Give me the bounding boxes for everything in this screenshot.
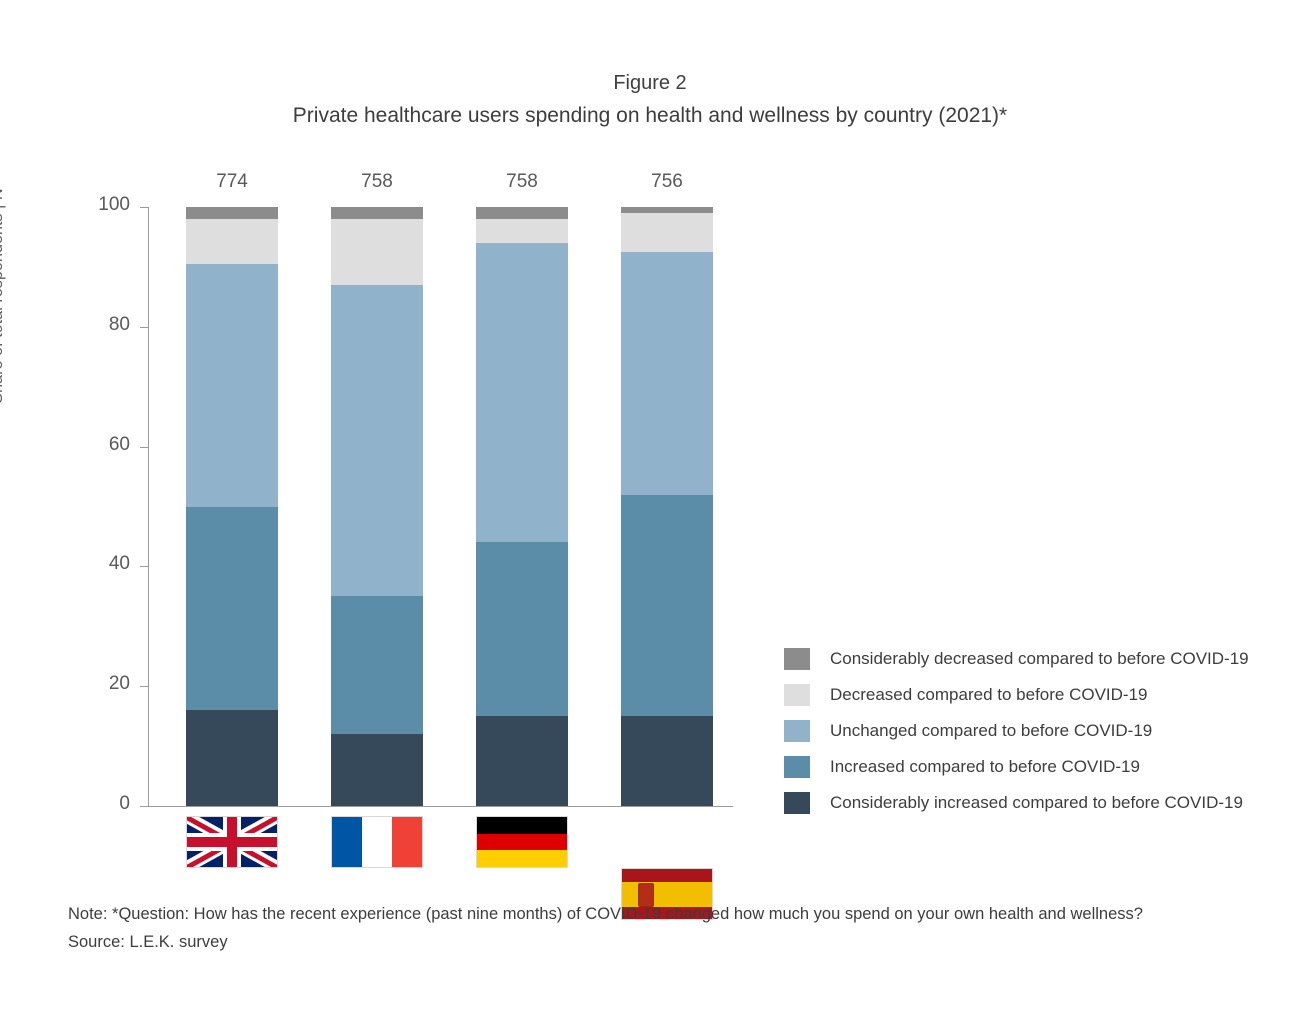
bar-segment-1[interactable]: [331, 596, 423, 734]
swatch-decreased: [784, 684, 810, 706]
legend-label: Unchanged compared to before COVID-19: [830, 721, 1152, 741]
y-tick-label-100: 100: [60, 194, 130, 216]
bar-segment-3[interactable]: [476, 219, 568, 243]
chart-notes: Note: *Question: How has the recent expe…: [68, 900, 1143, 956]
chart-legend: Considerably decreased compared to befor…: [784, 641, 1249, 821]
sample-size-label: 758: [476, 171, 568, 193]
bar-segment-3[interactable]: [186, 219, 278, 264]
bar-segment-1[interactable]: [186, 507, 278, 711]
uk-cross-red-v: [227, 817, 237, 867]
legend-item[interactable]: Considerably increased compared to befor…: [784, 785, 1249, 821]
sample-size-label: 756: [621, 171, 713, 193]
legend-label: Considerably increased compared to befor…: [830, 793, 1243, 813]
swatch-increased: [784, 756, 810, 778]
plot-area: 774758758756: [148, 207, 748, 806]
legend-item[interactable]: Unchanged compared to before COVID-19: [784, 713, 1249, 749]
bar-united-kingdom[interactable]: [186, 207, 278, 806]
note-line: Note: *Question: How has the recent expe…: [68, 900, 1143, 928]
sample-size-label: 758: [331, 171, 423, 193]
bar-segment-3[interactable]: [331, 219, 423, 285]
bar-segment-0[interactable]: [331, 734, 423, 806]
bar-segment-0[interactable]: [476, 716, 568, 806]
bar-segment-4[interactable]: [186, 207, 278, 219]
bar-segment-1[interactable]: [476, 542, 568, 716]
swatch-unchanged: [784, 720, 810, 742]
legend-item[interactable]: Decreased compared to before COVID-19: [784, 677, 1249, 713]
bar-segment-0[interactable]: [621, 716, 713, 806]
y-tick-label-80: 80: [60, 314, 130, 336]
legend-item[interactable]: Considerably decreased compared to befor…: [784, 641, 1249, 677]
bar-segment-2[interactable]: [331, 285, 423, 596]
source-line: Source: L.E.K. survey: [68, 928, 1143, 956]
legend-label: Considerably decreased compared to befor…: [830, 649, 1249, 669]
y-tick-label-60: 60: [60, 434, 130, 456]
bar-segment-3[interactable]: [621, 213, 713, 252]
chart-title-block: Figure 2 Private healthcare users spendi…: [0, 68, 1300, 132]
germany-band-gold: [477, 850, 567, 867]
france-band-red: [392, 817, 422, 867]
page-title: Private healthcare users spending on hea…: [0, 100, 1300, 132]
bar-spain[interactable]: [621, 207, 713, 806]
figure-number: Figure 2: [0, 68, 1300, 98]
x-axis-line: [148, 806, 733, 807]
uk-flag: [186, 816, 278, 868]
bar-segment-2[interactable]: [186, 264, 278, 507]
legend-label: Decreased compared to before COVID-19: [830, 685, 1148, 705]
y-axis-label: Share of total respondents | N: [0, 0, 7, 596]
bar-segment-2[interactable]: [476, 243, 568, 543]
france-flag: [331, 816, 423, 868]
france-band-blue: [332, 817, 362, 867]
france-band-white: [362, 817, 392, 867]
germany-band-red: [477, 834, 567, 851]
legend-item[interactable]: Increased compared to before COVID-19: [784, 749, 1249, 785]
bar-segment-4[interactable]: [331, 207, 423, 219]
y-tick-label-20: 20: [60, 673, 130, 695]
sample-size-label: 774: [186, 171, 278, 193]
swatch-considerably-increased: [784, 792, 810, 814]
bar-segment-1[interactable]: [621, 495, 713, 717]
bar-segment-0[interactable]: [186, 710, 278, 806]
bar-germany[interactable]: [476, 207, 568, 806]
legend-label: Increased compared to before COVID-19: [830, 757, 1140, 777]
bar-france[interactable]: [331, 207, 423, 806]
y-tick-label-0: 0: [60, 793, 130, 815]
bar-segment-4[interactable]: [476, 207, 568, 219]
bar-segment-2[interactable]: [621, 252, 713, 495]
y-tick-label-40: 40: [60, 553, 130, 575]
germany-band-black: [477, 817, 567, 834]
spain-band-red-top: [622, 869, 712, 882]
y-tick-0: [140, 806, 149, 807]
germany-flag: [476, 816, 568, 868]
swatch-considerably-decreased: [784, 648, 810, 670]
